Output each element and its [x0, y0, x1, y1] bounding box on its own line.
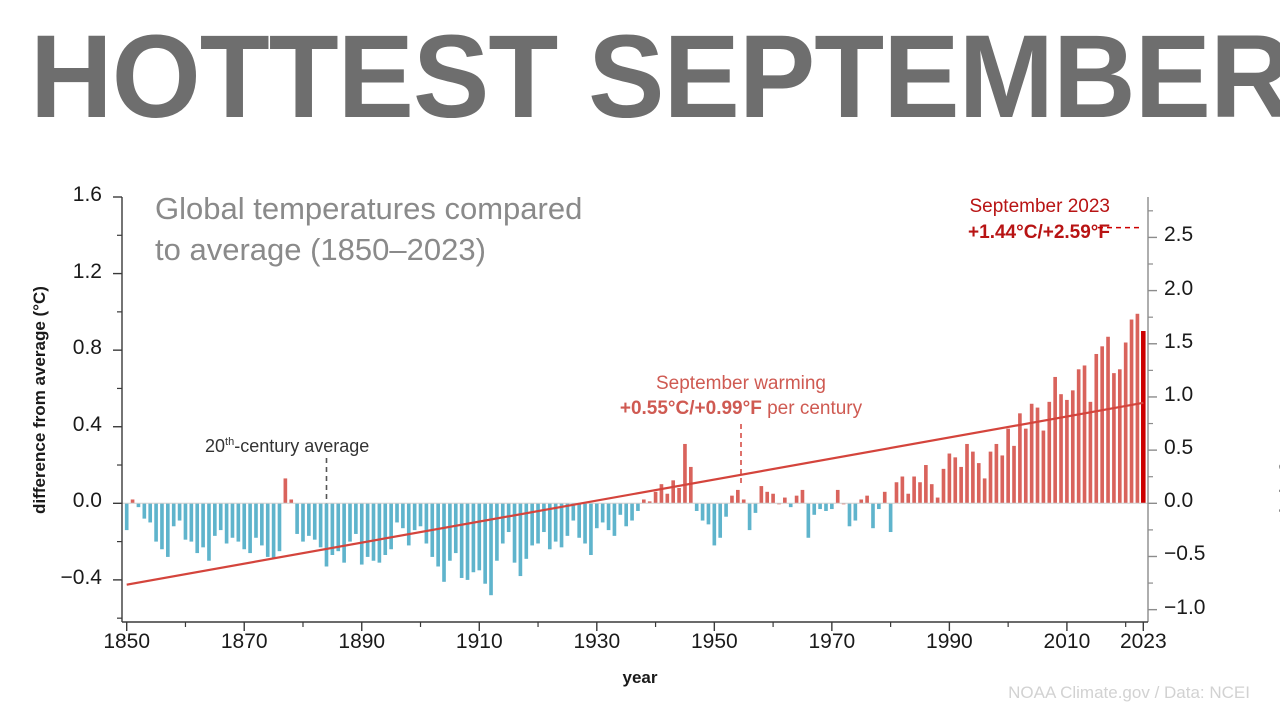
bar-year-1968	[818, 503, 822, 509]
bar-year-1880	[301, 503, 305, 541]
bar-year-1899	[413, 503, 417, 530]
bar-year-1992	[959, 467, 963, 503]
bar-year-1956	[748, 503, 752, 530]
bar-year-1857	[166, 503, 170, 557]
bar-year-1850	[125, 503, 129, 530]
bar-year-1928	[583, 503, 587, 543]
bar-year-1952	[724, 503, 728, 516]
x-tick-label: 1910	[434, 630, 524, 654]
bar-year-1996	[983, 478, 987, 503]
bar-year-1982	[901, 477, 905, 504]
bar-year-1862	[195, 503, 199, 553]
y-left-tick-label: 0.8	[32, 336, 102, 360]
bar-year-1963	[789, 503, 793, 507]
bar-year-1967	[812, 503, 816, 514]
bar-year-1964	[795, 496, 799, 504]
bar-year-1989	[942, 469, 946, 503]
bar-year-1943	[671, 480, 675, 503]
bar-year-1874	[266, 503, 270, 557]
y-right-tick-label: 1.0	[1164, 383, 1234, 407]
bar-year-2016	[1100, 346, 1104, 503]
bar-year-1879	[295, 503, 299, 534]
y-right-tick-label: 0.0	[1164, 489, 1234, 513]
bar-year-1948	[701, 503, 705, 520]
bar-year-1884	[325, 503, 329, 566]
x-tick-label: 2023	[1098, 630, 1188, 654]
bar-year-1946	[689, 467, 693, 503]
bar-year-2007	[1047, 402, 1051, 503]
bar-year-1986	[924, 465, 928, 503]
y-right-tick-label: −1.0	[1164, 596, 1234, 620]
bar-year-1914	[501, 503, 505, 543]
bar-year-1969	[824, 503, 828, 511]
bar-year-1993	[965, 444, 969, 503]
bar-year-1892	[372, 503, 376, 560]
bar-year-1957	[754, 503, 758, 513]
bar-year-2000	[1006, 429, 1010, 504]
bar-year-1909	[472, 503, 476, 572]
bar-year-1951	[718, 503, 722, 537]
bar-year-2017	[1106, 337, 1110, 504]
bar-year-1866	[219, 503, 223, 530]
bar-year-1878	[289, 499, 293, 503]
bar-year-1966	[807, 503, 811, 537]
bar-year-2006	[1042, 431, 1046, 504]
bar-year-1987	[930, 484, 934, 503]
bar-year-2018	[1112, 373, 1116, 503]
bar-year-1898	[407, 503, 411, 545]
y-left-tick-label: 1.6	[32, 183, 102, 207]
bar-year-1916	[513, 503, 517, 562]
bar-year-1927	[577, 503, 581, 537]
bar-year-1958	[760, 486, 764, 503]
bar-year-1932	[607, 503, 611, 530]
bar-year-1918	[524, 503, 528, 559]
bar-year-1960	[771, 494, 775, 504]
bar-year-1979	[883, 492, 887, 503]
bar-year-1889	[354, 503, 358, 534]
bar-year-2022	[1136, 314, 1140, 504]
y-right-tick-label: 2.0	[1164, 277, 1234, 301]
bar-year-1881	[307, 503, 311, 536]
bar-year-1851	[131, 499, 135, 503]
bar-year-2014	[1089, 402, 1093, 503]
bar-year-1991	[953, 457, 957, 503]
bar-year-1999	[1000, 455, 1004, 503]
bar-year-1920	[536, 503, 540, 543]
bar-year-1955	[742, 499, 746, 503]
bar-year-1858	[172, 503, 176, 526]
bar-year-1910	[477, 503, 481, 570]
bar-year-1933	[613, 503, 617, 536]
bar-year-1853	[143, 503, 147, 518]
bar-year-1869	[237, 503, 241, 541]
bar-year-1871	[248, 503, 252, 553]
bar-year-1949	[707, 503, 711, 524]
bar-year-1940	[654, 492, 658, 503]
bar-year-1924	[560, 503, 564, 547]
bar-year-1870	[242, 503, 246, 549]
bar-year-1901	[425, 503, 429, 543]
bar-year-1997	[989, 452, 993, 504]
bar-year-1883	[319, 503, 323, 547]
y-right-tick-label: 0.5	[1164, 436, 1234, 460]
bar-year-2003	[1024, 429, 1028, 504]
bar-year-1998	[995, 444, 999, 503]
bar-year-1903	[436, 503, 440, 566]
bar-year-1981	[895, 482, 899, 503]
x-tick-label: 1950	[669, 630, 759, 654]
bar-year-2001	[1012, 446, 1016, 503]
bar-year-2019	[1118, 369, 1122, 503]
bar-year-1905	[448, 503, 452, 560]
bar-year-1959	[765, 492, 769, 503]
bar-year-1876	[278, 503, 282, 551]
bar-year-1897	[401, 503, 405, 528]
bar-year-1925	[566, 503, 570, 536]
bar-year-1995	[977, 463, 981, 503]
bar-year-1934	[618, 503, 622, 514]
bar-year-1950	[713, 503, 717, 545]
bar-year-1873	[260, 503, 264, 545]
bar-year-1877	[284, 478, 288, 503]
bar-year-1938	[642, 499, 646, 503]
bar-year-1860	[184, 503, 188, 539]
y-left-tick-label: 0.0	[32, 489, 102, 513]
x-tick-label: 1990	[904, 630, 994, 654]
x-tick-label: 1930	[552, 630, 642, 654]
bar-year-1929	[589, 503, 593, 555]
bar-year-1893	[378, 503, 382, 562]
bar-year-1911	[483, 503, 487, 583]
bar-year-1988	[936, 498, 940, 504]
x-tick-label: 1890	[317, 630, 407, 654]
bar-year-1864	[207, 503, 211, 560]
bar-year-1872	[254, 503, 258, 537]
bar-year-2015	[1094, 354, 1098, 503]
bar-year-1921	[542, 503, 546, 532]
bar-year-2012	[1077, 369, 1081, 503]
bar-year-1953	[730, 496, 734, 504]
bar-year-1935	[624, 503, 628, 526]
bar-year-1875	[272, 503, 276, 559]
bar-year-1944	[677, 488, 681, 503]
bar-year-1931	[601, 503, 605, 522]
y-right-tick-label: 2.5	[1164, 223, 1234, 247]
infographic-root: HOTTEST SEPTEMBER ON RECORD Global tempe…	[0, 0, 1280, 720]
chart-canvas	[0, 0, 1280, 720]
bar-year-1900	[419, 503, 423, 526]
bar-year-1854	[148, 503, 152, 522]
bar-year-1906	[454, 503, 458, 553]
bar-year-2023	[1141, 331, 1146, 503]
bar-year-1904	[442, 503, 446, 581]
bar-year-1855	[154, 503, 158, 541]
bar-year-1983	[906, 494, 910, 504]
bar-year-1978	[877, 503, 881, 509]
bar-year-1954	[736, 490, 740, 503]
bar-year-1977	[871, 503, 875, 528]
bar-year-2013	[1083, 365, 1087, 503]
bar-year-1887	[342, 503, 346, 562]
bar-year-1962	[783, 498, 787, 504]
bar-year-1894	[383, 503, 387, 555]
bar-year-1980	[889, 503, 893, 532]
bar-year-1908	[466, 503, 470, 580]
bar-year-1975	[859, 499, 863, 503]
bar-year-1867	[225, 503, 229, 543]
bar-year-1936	[630, 503, 634, 520]
bar-year-2021	[1130, 320, 1134, 504]
bar-year-1973	[848, 503, 852, 526]
bar-year-1976	[865, 496, 869, 504]
bar-year-1890	[360, 503, 364, 564]
bar-year-1913	[495, 503, 499, 560]
bar-year-1891	[366, 503, 370, 557]
bar-year-1912	[489, 503, 493, 595]
bar-year-1941	[660, 484, 664, 503]
y-left-tick-label: 1.2	[32, 260, 102, 284]
bar-year-1865	[213, 503, 217, 536]
x-tick-label: 1870	[199, 630, 289, 654]
bar-year-1947	[695, 503, 699, 511]
bar-year-1856	[160, 503, 164, 549]
bar-year-1868	[231, 503, 235, 537]
bar-year-2009	[1059, 394, 1063, 503]
bar-year-1937	[636, 503, 640, 511]
bar-year-1888	[348, 503, 352, 541]
y-left-tick-label: 0.4	[32, 413, 102, 437]
bar-year-1882	[313, 503, 317, 539]
bar-year-2004	[1030, 404, 1034, 504]
bar-year-1942	[666, 494, 670, 504]
y-right-tick-label: −0.5	[1164, 542, 1234, 566]
bar-year-2008	[1053, 377, 1057, 503]
x-tick-label: 1850	[82, 630, 172, 654]
bar-year-1863	[201, 503, 205, 547]
bar-year-1907	[460, 503, 464, 578]
bar-year-1895	[389, 503, 393, 549]
bar-year-1861	[190, 503, 194, 541]
bar-year-1930	[595, 503, 599, 528]
bar-year-1859	[178, 503, 182, 520]
bar-year-1985	[918, 482, 922, 503]
bar-year-2020	[1124, 343, 1128, 504]
y-left-tick-label: −0.4	[32, 566, 102, 590]
bar-year-1974	[854, 503, 858, 520]
bar-year-1970	[830, 503, 834, 509]
bar-year-1945	[683, 444, 687, 503]
bar-year-1886	[336, 503, 340, 551]
bar-year-1984	[912, 477, 916, 504]
bar-year-1919	[530, 503, 534, 545]
y-right-tick-label: 1.5	[1164, 330, 1234, 354]
x-tick-label: 1970	[787, 630, 877, 654]
bar-year-1852	[137, 503, 141, 507]
bar-year-1994	[971, 452, 975, 504]
bar-year-2011	[1071, 390, 1075, 503]
bar-year-1896	[395, 503, 399, 522]
bar-year-1971	[836, 490, 840, 503]
bar-year-2002	[1018, 413, 1022, 503]
bar-year-1990	[948, 454, 952, 504]
bar-year-1965	[801, 490, 805, 503]
